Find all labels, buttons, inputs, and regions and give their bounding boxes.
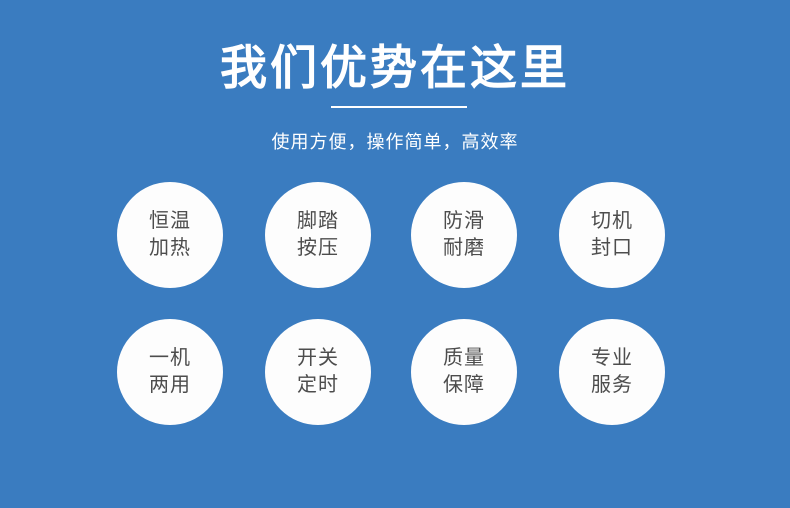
- page-subtitle: 使用方便，操作简单，高效率: [0, 129, 790, 155]
- page-title: 我们优势在这里: [0, 40, 790, 96]
- feature-label-line1: 开关: [297, 345, 339, 372]
- feature-row: 一机 两用 开关 定时 质量 保障 专业 服务: [0, 319, 790, 425]
- feature-label-line2: 耐磨: [443, 235, 485, 262]
- feature-label-line1: 脚踏: [297, 208, 339, 235]
- feature-label-line2: 定时: [297, 372, 339, 399]
- feature-label-line1: 恒温: [149, 208, 191, 235]
- feature-label-line1: 一机: [149, 345, 191, 372]
- feature-label-line2: 服务: [591, 372, 633, 399]
- feature-circle-jiaota-anya[interactable]: 脚踏 按压: [265, 182, 371, 288]
- feature-label-line1: 专业: [591, 345, 633, 372]
- feature-label-line1: 切机: [591, 208, 633, 235]
- promo-banner: 我们优势在这里 使用方便，操作简单，高效率 恒温 加热 脚踏 按压 防滑 耐磨 …: [0, 0, 790, 508]
- feature-label-line2: 加热: [149, 235, 191, 262]
- feature-circle-zhiliang-baozhang[interactable]: 质量 保障: [411, 319, 517, 425]
- title-underline-divider: [331, 106, 467, 108]
- feature-circle-fanghua-naimo[interactable]: 防滑 耐磨: [411, 182, 517, 288]
- feature-label-line2: 按压: [297, 235, 339, 262]
- feature-label-line1: 质量: [443, 345, 485, 372]
- feature-circle-hengwen-jiare[interactable]: 恒温 加热: [117, 182, 223, 288]
- feature-row: 恒温 加热 脚踏 按压 防滑 耐磨 切机 封口: [0, 182, 790, 288]
- feature-label-line2: 两用: [149, 372, 191, 399]
- feature-circle-kaiguan-dingshi[interactable]: 开关 定时: [265, 319, 371, 425]
- feature-circle-zhuanye-fuwu[interactable]: 专业 服务: [559, 319, 665, 425]
- feature-circle-qieji-fengkou[interactable]: 切机 封口: [559, 182, 665, 288]
- feature-grid: 恒温 加热 脚踏 按压 防滑 耐磨 切机 封口 一机 两用 开关: [0, 182, 790, 456]
- feature-label-line2: 保障: [443, 372, 485, 399]
- feature-label-line2: 封口: [591, 235, 633, 262]
- feature-label-line1: 防滑: [443, 208, 485, 235]
- feature-circle-yiji-liangyong[interactable]: 一机 两用: [117, 319, 223, 425]
